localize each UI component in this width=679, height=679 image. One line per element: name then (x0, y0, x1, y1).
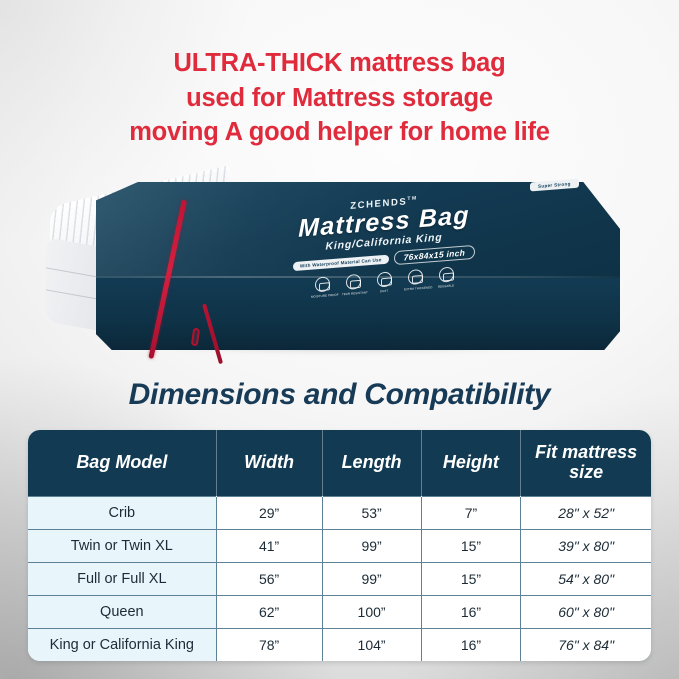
feature-item: MOISTURE PROOF (311, 276, 333, 298)
cell-height: 16” (421, 628, 521, 661)
column-header-length: Length (322, 430, 421, 496)
headline-line-3: moving A good helper for home life (0, 115, 679, 150)
feature-item: EXTRA THICKENED (404, 269, 426, 291)
cell-fit-size: 39" x 80" (521, 529, 651, 562)
cell-fit-size: 60" x 80" (521, 595, 651, 628)
feature-item: DUST (373, 272, 395, 294)
cell-height: 15” (421, 562, 521, 595)
cell-height: 16” (421, 595, 521, 628)
column-header-height: Height (421, 430, 521, 496)
cell-length: 99” (322, 529, 421, 562)
cell-height: 7” (421, 496, 521, 529)
reusable-icon (439, 267, 454, 283)
table-row: Queen 62” 100” 16” 60" x 80" (28, 595, 651, 628)
bag-size-text: 76x84x15 inch (394, 245, 476, 265)
cell-bag-model: Twin or Twin XL (28, 529, 216, 562)
dimensions-table-wrapper: Bag Model Width Length Height Fit mattre… (28, 430, 651, 661)
cell-width: 78” (216, 628, 322, 661)
cell-length: 53” (322, 496, 421, 529)
cell-bag-model: King or California King (28, 628, 216, 661)
column-header-fit-mattress-size: Fit mattress size (521, 430, 651, 496)
cell-length: 100” (322, 595, 421, 628)
table-body: Crib 29” 53” 7” 28" x 52" Twin or Twin X… (28, 496, 651, 661)
waterproof-pill: With Waterproof Material Can Use (293, 255, 389, 272)
table-row: Full or Full XL 56” 99” 15” 54" x 80" (28, 562, 651, 595)
tear-resist-icon (346, 274, 361, 290)
cell-width: 62” (216, 595, 322, 628)
table-row: Twin or Twin XL 41” 99” 15” 39" x 80" (28, 529, 651, 562)
table-header: Bag Model Width Length Height Fit mattre… (28, 430, 651, 496)
dimensions-table: Bag Model Width Length Height Fit mattre… (28, 430, 651, 661)
cell-fit-size: 54" x 80" (521, 562, 651, 595)
table-row: King or California King 78” 104” 16” 76"… (28, 628, 651, 661)
cell-width: 56” (216, 562, 322, 595)
column-header-bag-model: Bag Model (28, 430, 216, 496)
headline-line-1: ULTRA-THICK mattress bag (0, 46, 679, 81)
cell-width: 41” (216, 529, 322, 562)
cell-fit-size: 28" x 52" (521, 496, 651, 529)
headline: ULTRA-THICK mattress bag used for Mattre… (0, 46, 679, 150)
cell-bag-model: Queen (28, 595, 216, 628)
feature-item: TEAR RESISTANT (342, 274, 364, 296)
feature-item: REUSABLE (435, 267, 457, 289)
product-photo: Super Strong ZCHENDSTM Mattress Bag King… (0, 168, 679, 368)
headline-line-2: used for Mattress storage (0, 81, 679, 116)
column-header-width: Width (216, 430, 322, 496)
thick-icon (408, 269, 423, 285)
dustproof-icon (377, 272, 392, 288)
table-row: Crib 29” 53” 7” 28" x 52" (28, 496, 651, 529)
table-header-row: Bag Model Width Length Height Fit mattre… (28, 430, 651, 496)
shield-icon (315, 277, 330, 293)
infographic-page: ULTRA-THICK mattress bag used for Mattre… (0, 0, 679, 679)
cell-length: 104” (322, 628, 421, 661)
cell-width: 29” (216, 496, 322, 529)
cell-fit-size: 76" x 84" (521, 628, 651, 661)
trademark-mark: TM (407, 195, 417, 202)
cell-height: 15” (421, 529, 521, 562)
mattress-bag-illustration: Super Strong ZCHENDSTM Mattress Bag King… (96, 182, 620, 358)
cell-bag-model: Crib (28, 496, 216, 529)
section-title: Dimensions and Compatibility (0, 378, 679, 412)
cell-length: 99” (322, 562, 421, 595)
cell-bag-model: Full or Full XL (28, 562, 216, 595)
